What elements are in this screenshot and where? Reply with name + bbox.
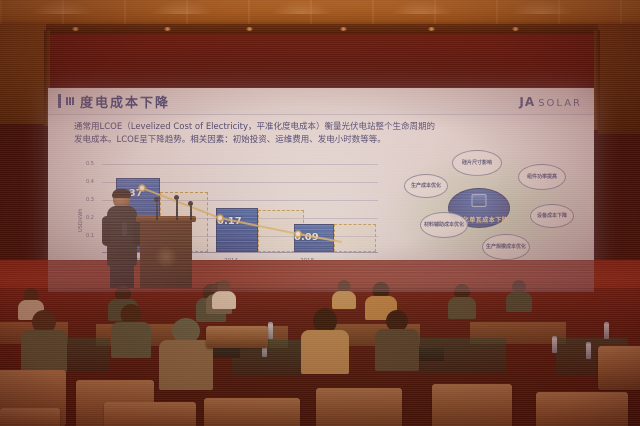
- audience-chair: [536, 392, 628, 426]
- ja-solar-logo: JA SOLAR: [519, 95, 582, 109]
- audience-member: [332, 280, 356, 306]
- chart-y-tick: 0.4: [86, 179, 94, 185]
- downlight: [246, 27, 253, 31]
- podium-microphone-stand: [190, 204, 192, 220]
- audience-chair: [104, 402, 196, 426]
- presenter-hair: [112, 189, 131, 198]
- person-torso: [111, 322, 151, 358]
- ceiling-light-diffuser: [390, 0, 454, 14]
- presenter-arm-left: [102, 216, 111, 246]
- chart-y-tick: 0.2: [86, 215, 94, 221]
- handheld-microphone: [122, 222, 127, 236]
- audience-chair: [206, 326, 268, 348]
- slide-title: 度电成本下降: [80, 92, 170, 111]
- laptop: [418, 348, 444, 361]
- ceiling-light-diffuser: [30, 0, 94, 14]
- chart-y-tick: 0.5: [86, 161, 94, 167]
- chart-y-tick: 0.3: [86, 197, 94, 203]
- person-torso: [212, 291, 236, 309]
- side-wall-left: [0, 24, 46, 124]
- slide-body-line-2: 发电成本。LCOE呈下降趋势。相关因素：初始投资、运维费用、发电小时数等等。: [74, 134, 570, 147]
- downlight: [428, 27, 435, 31]
- slide-header: 度电成本下降 JA SOLAR: [48, 88, 594, 115]
- person-torso: [506, 292, 532, 312]
- person-torso: [301, 330, 349, 374]
- chart-y-axis-label: USD/kWh: [78, 209, 84, 232]
- audience-member: [212, 280, 236, 306]
- water-bottle: [586, 342, 591, 359]
- person-torso: [375, 329, 419, 371]
- audience-area: [0, 288, 640, 426]
- ceiling-light-diffuser: [270, 0, 334, 14]
- podium-microphone-stand: [156, 200, 158, 220]
- audience-chair: [0, 408, 60, 426]
- audience-member: [376, 310, 418, 368]
- diagram-node: 材料辅助成本优化: [420, 212, 468, 238]
- chart-y-tick: 0.1: [86, 233, 94, 239]
- audience-chair: [432, 384, 512, 426]
- audience-chair: [316, 388, 402, 426]
- person-torso: [21, 330, 67, 372]
- water-bottle: [268, 322, 273, 339]
- downlight: [512, 27, 519, 31]
- diagram-node: 硅片尺寸影响: [452, 150, 502, 176]
- solar-panel-icon: [472, 194, 487, 207]
- podium: [140, 218, 192, 298]
- person-torso: [159, 340, 213, 390]
- person-torso: [448, 297, 476, 319]
- slide-body-line-1: 通常用LCOE（Levelized Cost of Electricity，平准…: [74, 121, 570, 134]
- diagram-node: 设备成本下降: [530, 204, 574, 228]
- audience-member: [506, 280, 532, 308]
- water-bottle: [552, 336, 557, 353]
- audience-member: [22, 310, 66, 370]
- chart-gridline: [102, 164, 378, 165]
- header-accent-bar: [58, 94, 61, 108]
- downlight: [164, 27, 171, 31]
- grid-bullet-icon: [66, 97, 75, 105]
- downlight: [72, 27, 79, 31]
- presenter: [104, 190, 140, 294]
- ceiling-light-diffuser: [510, 0, 574, 14]
- audience-chair: [598, 346, 640, 390]
- audience-member: [448, 284, 476, 316]
- audience-member: [160, 318, 212, 388]
- slide-body-text: 通常用LCOE（Levelized Cost of Electricity，平准…: [74, 121, 570, 147]
- audience-member: [302, 308, 348, 370]
- podium-microphone-head: [174, 195, 179, 200]
- podium-emblem: [154, 246, 178, 268]
- logo-ja-text: JA: [519, 95, 535, 109]
- downlight: [340, 27, 347, 31]
- ceiling-light-diffuser: [150, 0, 214, 14]
- water-bottle: [604, 322, 609, 339]
- side-wall-right: [598, 24, 640, 134]
- logo-solar-text: SOLAR: [538, 98, 582, 109]
- diagram-node: 生产成本优化: [404, 174, 448, 198]
- conference-hall-photo: 度电成本下降 JA SOLAR 通常用LCOE（Levelized Cost o…: [0, 0, 640, 426]
- audience-chair: [204, 398, 300, 426]
- podium-microphone-stand: [176, 198, 178, 220]
- cost-reduction-diagram: 一体化单瓦成本下降 硅片尺寸影响 组件功率提高 生产成本优化 设备成本下降 材料…: [390, 150, 588, 268]
- diagram-node: 组件功率提高: [518, 164, 566, 190]
- podium-microphone-head: [188, 201, 193, 206]
- podium-microphone-head: [154, 197, 159, 202]
- diagram-node: 生产规模成本优化: [482, 234, 530, 260]
- person-torso: [332, 291, 356, 309]
- audience-member: [112, 304, 150, 354]
- wall-pillar-right: [594, 30, 600, 130]
